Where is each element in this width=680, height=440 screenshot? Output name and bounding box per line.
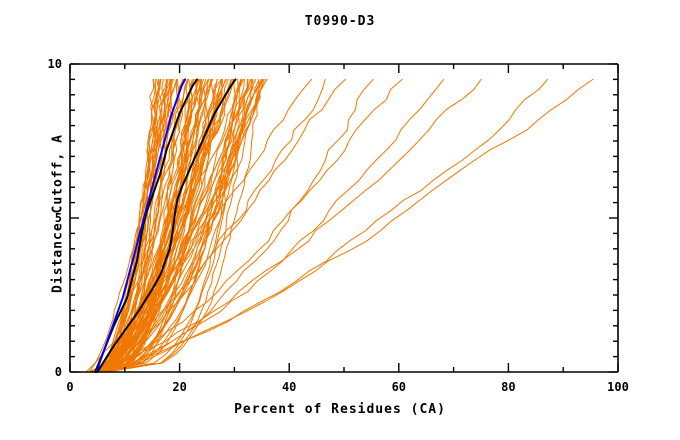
y-tick-label: 5 [40,211,62,225]
x-tick-label: 80 [501,380,515,394]
chart-title: T0990-D3 [0,14,680,29]
x-tick-label: 0 [66,380,73,394]
plot-canvas [0,0,680,440]
x-tick-label: 100 [607,380,629,394]
series-layer [86,79,593,372]
x-axis-label: Percent of Residues (CA) [0,402,680,417]
x-tick-label: 20 [172,380,186,394]
y-tick-label: 10 [40,57,62,71]
x-tick-label: 60 [392,380,406,394]
y-tick-label: 0 [40,365,62,379]
chart-figure: T0990-D3 Distance Cutoff, A Percent of R… [0,0,680,440]
x-tick-label: 40 [282,380,296,394]
